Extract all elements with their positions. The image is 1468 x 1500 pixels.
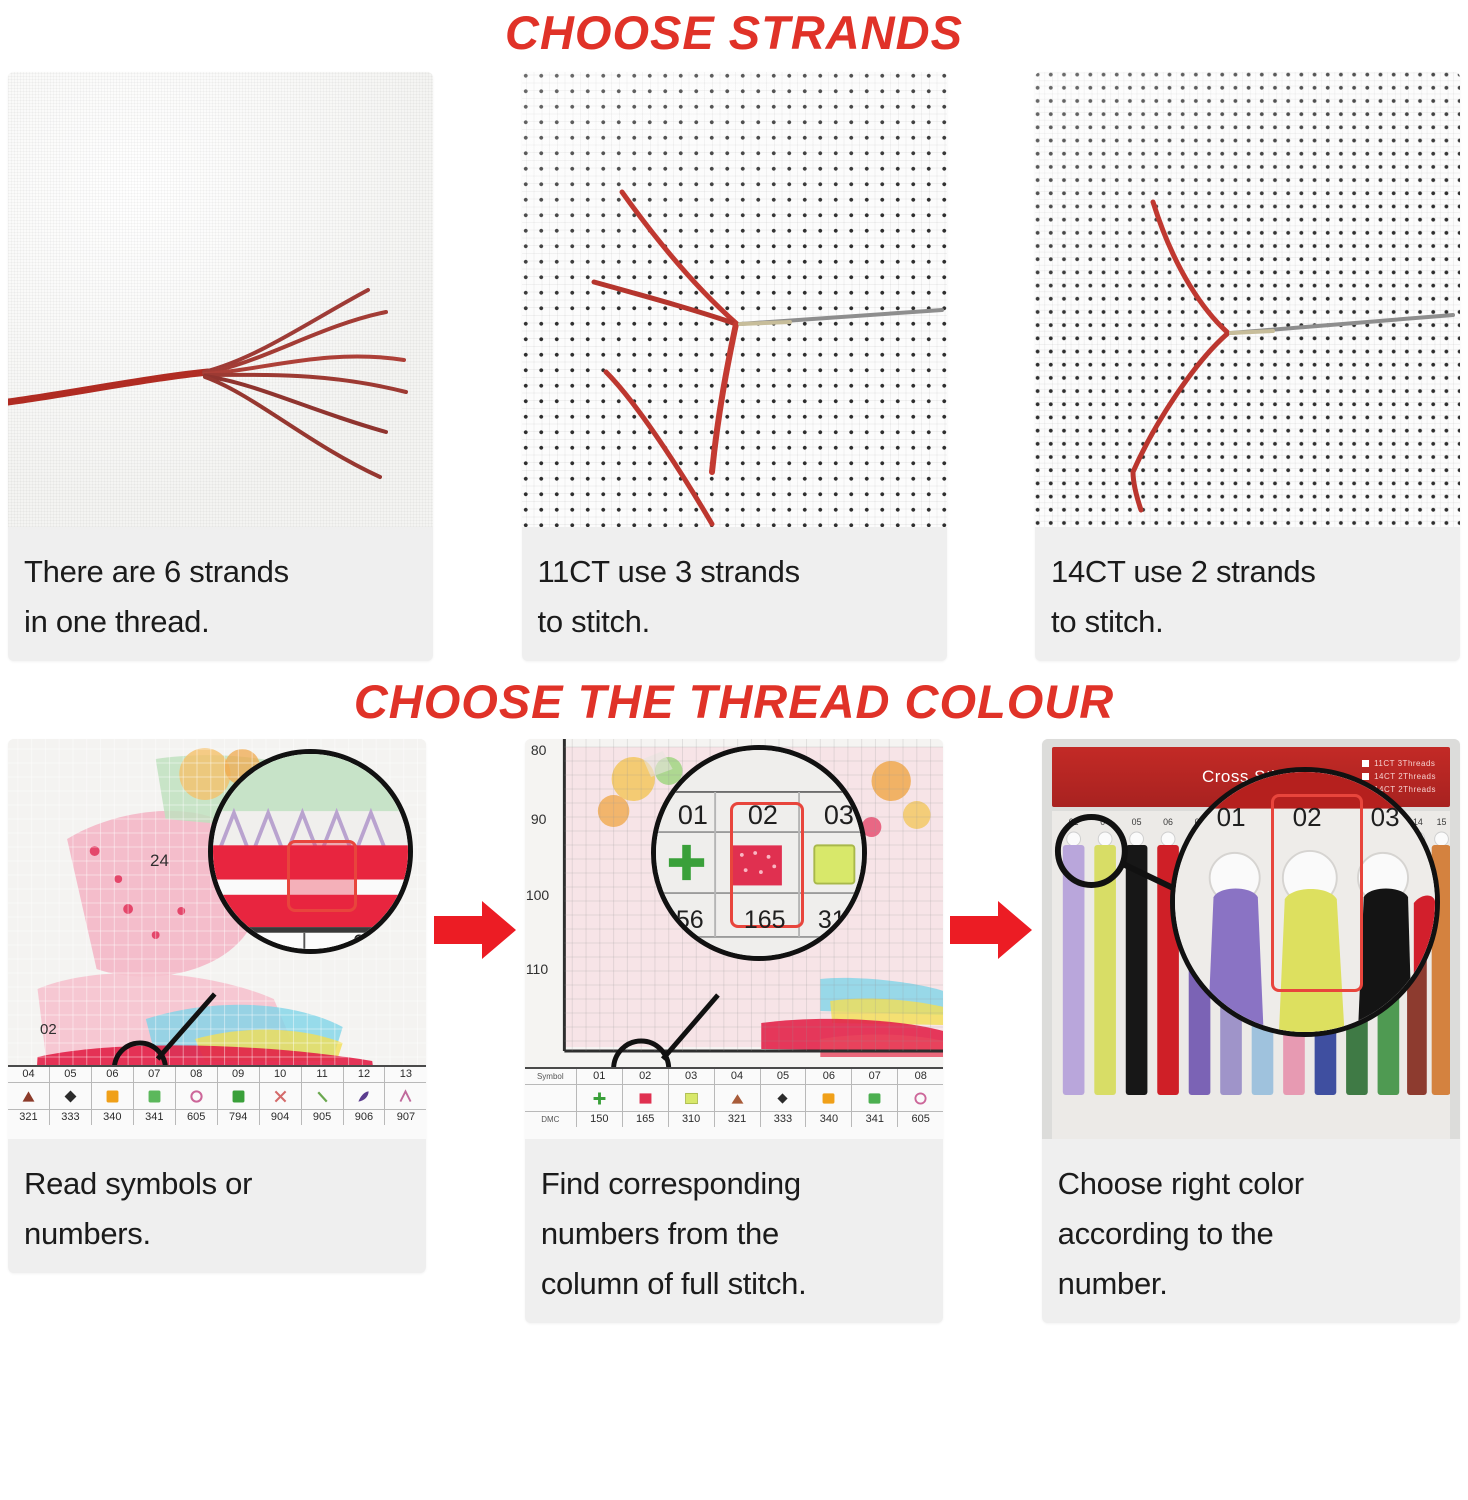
checkbox-icon[interactable]	[1362, 760, 1369, 767]
svg-text:15: 15	[1436, 817, 1446, 827]
caption-line-2: according to the	[1058, 1209, 1444, 1259]
legend-symbol-green-square	[134, 1083, 176, 1109]
caption-line-2: to stitch.	[538, 597, 931, 647]
legend-symbol-open-circle	[898, 1085, 943, 1111]
legend-index: 05	[50, 1067, 92, 1082]
legend-index: 04	[715, 1069, 761, 1084]
caption-line-2: numbers from the	[541, 1209, 927, 1259]
legend-code: 341	[134, 1110, 176, 1125]
legend-index-row: Symbol 01 02 03 04 05 06 07 08	[525, 1069, 943, 1085]
lens-number-01: 01	[678, 800, 708, 831]
full-stitch-legend-table: Symbol 01 02 03 04 05 06 07 08	[525, 1067, 943, 1139]
arrow-1-wrap	[426, 739, 524, 961]
legend-index: 03	[669, 1069, 715, 1084]
legend-symbol-triangle	[8, 1083, 50, 1109]
strand-card-caption: 14CT use 2 strands to stitch.	[1035, 527, 1460, 661]
arrow-right-icon	[434, 899, 518, 961]
floss-board-photo: Cross Stitch 11CT 3Threads 14CT 2Threads…	[1042, 739, 1460, 1139]
needle-and-3-strands-illustration	[522, 72, 947, 527]
needle-and-2-strands-illustration	[1035, 72, 1460, 527]
legend-code: 794	[218, 1110, 260, 1125]
lens-content: 01 02 03 56 165 310	[656, 750, 862, 956]
legend-index-row: 04 05 06 07 08 09 10 11 12 13	[8, 1067, 426, 1083]
six-strands-illustration	[8, 72, 433, 527]
legend-symbol-row	[525, 1085, 943, 1111]
legend-code: 150	[577, 1112, 623, 1127]
legend-code: 906	[344, 1110, 386, 1125]
legend-index: 09	[218, 1067, 260, 1082]
arrow-2-wrap	[943, 739, 1041, 961]
legend-index: 06	[806, 1069, 852, 1084]
strand-photo-plain-cloth	[8, 72, 433, 527]
chart-bottom-number: 02	[40, 1021, 57, 1038]
legend-row-label-symbol: Symbol	[525, 1069, 577, 1084]
legend-code: 605	[176, 1110, 218, 1125]
legend-symbol-leaf	[344, 1083, 386, 1109]
strand-card-caption: 11CT use 3 strands to stitch.	[522, 527, 947, 661]
legend-index: 13	[385, 1067, 426, 1082]
caption-line-2: in one thread.	[24, 597, 417, 647]
caption-line-1: There are 6 strands	[24, 547, 417, 597]
strands-row: There are 6 strands in one thread. 11CT …	[0, 72, 1468, 661]
legend-code: 907	[385, 1110, 426, 1125]
pattern-chart-photo: 24 02	[8, 739, 426, 1139]
caption-line-2: numbers.	[24, 1209, 410, 1259]
lens-content: 02 07	[213, 754, 408, 949]
legend-symbol-caret	[385, 1083, 426, 1109]
legend-symbol-yellowgreen-square	[669, 1085, 715, 1111]
legend-code: 340	[92, 1110, 134, 1125]
magnifier-lens-floss: 01 02 03	[1170, 767, 1440, 1037]
legend-symbol-diamond	[761, 1085, 807, 1111]
magnifier-lens-pattern: 02 07	[208, 749, 413, 954]
legend-code: 904	[260, 1110, 302, 1125]
lens-number-01: 01	[1217, 802, 1246, 833]
colour-card-find-numbers: 80 90 100 110	[525, 739, 943, 1323]
legend-code: 321	[8, 1110, 50, 1125]
legend-symbol-orange-square	[92, 1083, 134, 1109]
lens-number-02: 02	[748, 800, 778, 831]
svg-text:05: 05	[1131, 817, 1141, 827]
lens-highlight-box	[287, 840, 357, 912]
colour-card-caption: Read symbols or numbers.	[8, 1139, 426, 1273]
thread-colour-row: 24 02	[0, 739, 1468, 1323]
symbol-legend-table: 04 05 06 07 08 09 10 11 12 13	[8, 1065, 426, 1139]
lens-number-02: 02	[1293, 802, 1322, 833]
strand-card-6-strands: There are 6 strands in one thread.	[8, 72, 433, 661]
legend-symbol-row	[8, 1083, 426, 1109]
caption-line-1: Choose right color	[1058, 1159, 1444, 1209]
caption-line-1: Find corresponding	[541, 1159, 927, 1209]
legend-symbol-diamond	[50, 1083, 92, 1109]
legend-row-label-dmc: DMC	[525, 1112, 577, 1127]
legend-symbol-triangle	[715, 1085, 761, 1111]
caption-line-2: to stitch.	[1051, 597, 1444, 647]
row-axis-label-80: 80	[531, 742, 547, 758]
legend-index: 04	[8, 1067, 50, 1082]
legend-code: 333	[761, 1112, 807, 1127]
legend-symbol-green-square	[852, 1085, 898, 1111]
colour-card-caption: Choose right color according to the numb…	[1042, 1139, 1460, 1323]
legend-code: 605	[898, 1112, 943, 1127]
row-axis-label-90: 90	[531, 811, 547, 827]
legend-index: 07	[134, 1067, 176, 1082]
colour-card-read-symbols: 24 02	[8, 739, 426, 1273]
legend-index: 08	[176, 1067, 218, 1082]
full-stitch-chart-photo: 80 90 100 110	[525, 739, 943, 1139]
legend-code: 310	[669, 1112, 715, 1127]
legend-symbol-orange-square	[806, 1085, 852, 1111]
legend-code-row: DMC 150 165 310 321 333 340 341 605	[525, 1111, 943, 1127]
row-axis-label-110: 110	[526, 961, 548, 977]
legend-code: 333	[50, 1110, 92, 1125]
legend-index: 05	[761, 1069, 807, 1084]
strand-card-14ct: 14CT use 2 strands to stitch.	[1035, 72, 1460, 661]
strand-card-caption: There are 6 strands in one thread.	[8, 527, 433, 661]
legend-symbol-open-circle	[176, 1083, 218, 1109]
lens-code-310: 310	[818, 906, 860, 935]
legend-index: 07	[852, 1069, 898, 1084]
legend-code: 321	[715, 1112, 761, 1127]
legend-index: 10	[260, 1067, 302, 1082]
legend-row-spacer	[525, 1085, 577, 1111]
row-axis-label-100: 100	[526, 887, 549, 903]
legend-code: 165	[623, 1112, 669, 1127]
legend-symbol-x-cross	[260, 1083, 302, 1109]
strand-photo-11ct-aida	[522, 72, 947, 527]
caption-line-1: Read symbols or	[24, 1159, 410, 1209]
caption-line-1: 11CT use 3 strands	[538, 547, 931, 597]
strand-card-11ct: 11CT use 3 strands to stitch.	[522, 72, 947, 661]
legend-code: 341	[852, 1112, 898, 1127]
checkbox-label: 11CT 3Threads	[1374, 759, 1435, 768]
legend-index: 02	[623, 1069, 669, 1084]
legend-symbol-green-square-2	[218, 1083, 260, 1109]
strand-photo-14ct-aida	[1035, 72, 1460, 527]
legend-code-row: 321 333 340 341 605 794 904 905 906 907	[8, 1109, 426, 1125]
svg-text:06: 06	[1163, 817, 1173, 827]
board-checkbox-item[interactable]: 11CT 3Threads	[1362, 759, 1436, 768]
caption-line-3: number.	[1058, 1259, 1444, 1309]
legend-symbol-green-cross	[577, 1085, 623, 1111]
legend-index: 06	[92, 1067, 134, 1082]
caption-line-1: 14CT use 2 strands	[1051, 547, 1444, 597]
arrow-right-icon	[950, 899, 1034, 961]
page-title-choose-thread-colour: CHOOSE THE THREAD COLOUR	[0, 661, 1468, 739]
lens-number-03: 03	[1371, 802, 1400, 833]
page-title-choose-strands: CHOOSE STRANDS	[0, 0, 1468, 72]
magnifier-lens-full-stitch: 01 02 03 56 165 310	[651, 745, 867, 961]
legend-symbol-slash	[302, 1083, 344, 1109]
legend-code: 340	[806, 1112, 852, 1127]
legend-index: 01	[577, 1069, 623, 1084]
lens-number-03: 03	[824, 800, 854, 831]
chart-region-number: 24	[150, 851, 169, 871]
colour-card-caption: Find corresponding numbers from the colu…	[525, 1139, 943, 1323]
legend-index: 12	[344, 1067, 386, 1082]
lens-code-165: 165	[744, 906, 786, 935]
legend-symbol-red-square	[623, 1085, 669, 1111]
legend-index: 11	[302, 1067, 344, 1082]
legend-code: 905	[302, 1110, 344, 1125]
lens-code-56: 56	[676, 906, 704, 935]
colour-card-choose-color: Cross Stitch 11CT 3Threads 14CT 2Threads…	[1042, 739, 1460, 1323]
caption-line-3: column of full stitch.	[541, 1259, 927, 1309]
lens-content: 01 02 03	[1175, 772, 1435, 1032]
legend-index: 08	[898, 1069, 943, 1084]
